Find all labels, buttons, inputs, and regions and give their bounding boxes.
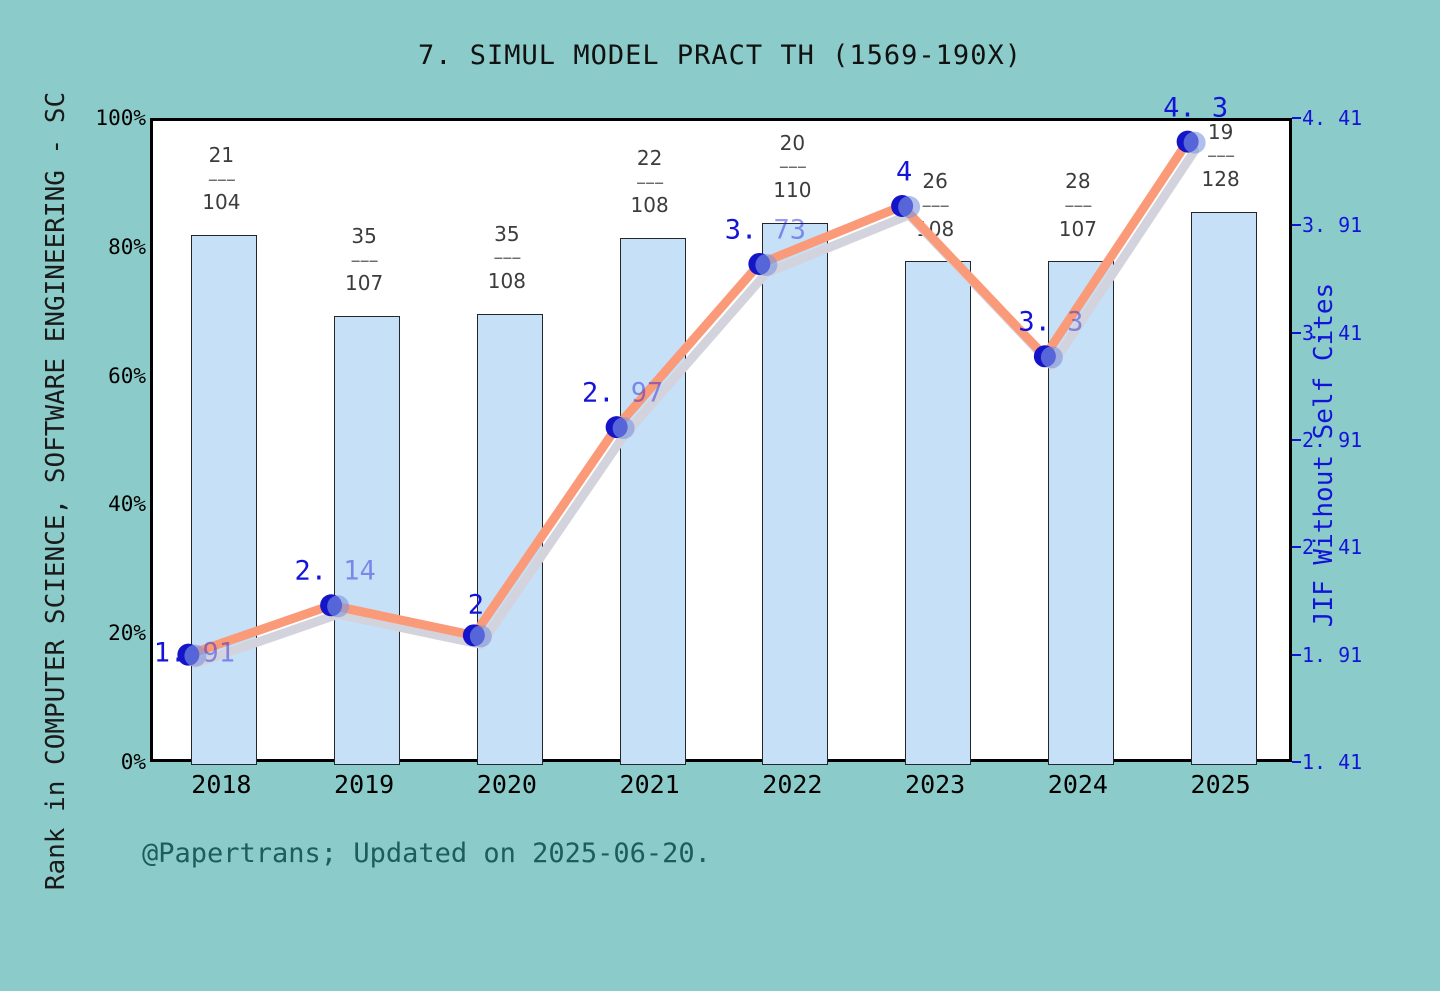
jif-point-label-2019: 2. 14 bbox=[294, 556, 375, 587]
bar-label-fraction-rule: ––– bbox=[1202, 144, 1240, 168]
bar-label-2021: 22–––108 bbox=[631, 147, 669, 218]
bar-label-2022: 20–––110 bbox=[773, 132, 811, 203]
footer-note: @Papertrans; Updated on 2025-06-20. bbox=[142, 838, 711, 869]
y-tick-right-2: 2. 41 bbox=[1302, 535, 1362, 559]
bar-label-fraction-rule: ––– bbox=[773, 155, 811, 179]
bar-label-2018: 21–––104 bbox=[202, 144, 240, 215]
jif-point-label-2020: 2 bbox=[468, 590, 484, 621]
bar-label-numerator: 19 bbox=[1208, 120, 1233, 144]
jif-point-label-head: 3. bbox=[1018, 307, 1051, 338]
y-tick-right-mark-6 bbox=[1292, 117, 1301, 119]
jif-point-label-tail: 3 bbox=[1051, 307, 1084, 338]
jif-point-label-2024: 3. 3 bbox=[1018, 307, 1083, 338]
bar-label-fraction-rule: ––– bbox=[631, 171, 669, 195]
bar-label-fraction-rule: ––– bbox=[202, 168, 240, 192]
y-tick-right-mark-0 bbox=[1292, 761, 1301, 763]
y-tick-left-0: 0% bbox=[26, 750, 146, 774]
bar-label-fraction-rule: ––– bbox=[1059, 194, 1097, 218]
bar-label-2023: 26–––108 bbox=[916, 170, 954, 241]
y-tick-right-mark-3 bbox=[1292, 439, 1301, 441]
jif-point-label-head: 3. bbox=[725, 214, 758, 245]
bar-2025 bbox=[1191, 212, 1257, 765]
bar-2021 bbox=[620, 238, 686, 765]
bar-label-denominator: 110 bbox=[773, 179, 811, 203]
y-tick-left-4: 80% bbox=[26, 235, 146, 259]
plot-area bbox=[150, 118, 1292, 762]
jif-point-label-head: 2 bbox=[468, 590, 484, 621]
bar-2020 bbox=[477, 314, 543, 765]
x-tick-2020: 2020 bbox=[477, 770, 537, 799]
jif-point-label-2023: 4 bbox=[896, 157, 912, 188]
bar-label-numerator: 28 bbox=[1065, 169, 1090, 193]
jif-point-label-tail: 91 bbox=[186, 637, 235, 668]
chart-canvas: 7. SIMUL MODEL PRACT TH (1569-190X) Rank… bbox=[0, 0, 1440, 960]
bar-label-fraction-rule: ––– bbox=[345, 249, 383, 273]
jif-point-label-head: 2. bbox=[582, 378, 615, 409]
y-tick-left-1: 20% bbox=[26, 621, 146, 645]
jif-point-label-head: 4 bbox=[896, 157, 912, 188]
bar-label-2024: 28–––107 bbox=[1059, 170, 1097, 241]
bar-2018 bbox=[191, 235, 257, 765]
bar-label-numerator: 35 bbox=[494, 222, 519, 246]
bar-label-fraction-rule: ––– bbox=[916, 194, 954, 218]
bar-label-2020: 35–––108 bbox=[488, 223, 526, 294]
y-tick-left-2: 40% bbox=[26, 492, 146, 516]
bar-label-denominator: 107 bbox=[345, 272, 383, 296]
jif-point-label-2022: 3. 73 bbox=[725, 214, 806, 245]
x-tick-2018: 2018 bbox=[191, 770, 251, 799]
y-tick-right-mark-1 bbox=[1292, 654, 1301, 656]
y-tick-right-0: 1. 41 bbox=[1302, 750, 1362, 774]
bar-2022 bbox=[762, 223, 828, 765]
x-tick-2022: 2022 bbox=[762, 770, 822, 799]
y-tick-right-3: 2. 91 bbox=[1302, 428, 1362, 452]
bar-label-denominator: 108 bbox=[916, 218, 954, 242]
y-tick-left-5: 100% bbox=[26, 106, 146, 130]
jif-point-label-head: 4. 3 bbox=[1163, 92, 1228, 123]
y-tick-right-mark-2 bbox=[1292, 546, 1301, 548]
bar-label-2019: 35–––107 bbox=[345, 225, 383, 296]
bar-label-numerator: 20 bbox=[780, 131, 805, 155]
jif-point-label-head: 1. bbox=[154, 637, 187, 668]
bar-label-denominator: 107 bbox=[1059, 218, 1097, 242]
bar-label-numerator: 21 bbox=[209, 143, 234, 167]
bar-2023 bbox=[905, 261, 971, 765]
bar-label-denominator: 108 bbox=[488, 270, 526, 294]
jif-point-label-2025: 4. 3 bbox=[1163, 92, 1228, 123]
y-tick-right-6: 4. 41 bbox=[1302, 106, 1362, 130]
x-tick-2021: 2021 bbox=[620, 770, 680, 799]
y-tick-right-1: 1. 91 bbox=[1302, 643, 1362, 667]
x-tick-2023: 2023 bbox=[905, 770, 965, 799]
bar-label-numerator: 22 bbox=[637, 146, 662, 170]
x-tick-2024: 2024 bbox=[1048, 770, 1108, 799]
y-tick-left-3: 60% bbox=[26, 364, 146, 388]
jif-point-label-tail: 73 bbox=[757, 214, 806, 245]
x-tick-2025: 2025 bbox=[1191, 770, 1251, 799]
page-title: 7. SIMUL MODEL PRACT TH (1569-190X) bbox=[0, 40, 1440, 71]
bar-label-numerator: 35 bbox=[351, 224, 376, 248]
bar-2019 bbox=[334, 316, 400, 765]
bar-label-denominator: 108 bbox=[631, 194, 669, 218]
jif-point-label-tail: 97 bbox=[614, 378, 663, 409]
bar-label-numerator: 26 bbox=[922, 169, 947, 193]
jif-point-label-2018: 1. 91 bbox=[154, 637, 235, 668]
bar-label-fraction-rule: ––– bbox=[488, 246, 526, 270]
x-tick-2019: 2019 bbox=[334, 770, 394, 799]
jif-point-label-tail: 14 bbox=[327, 556, 376, 587]
bars-container bbox=[153, 121, 1289, 759]
y-tick-right-5: 3. 91 bbox=[1302, 213, 1362, 237]
jif-point-label-2021: 2. 97 bbox=[582, 378, 663, 409]
bar-label-denominator: 128 bbox=[1202, 168, 1240, 192]
y-tick-right-4: 3. 41 bbox=[1302, 321, 1362, 345]
y-tick-right-mark-5 bbox=[1292, 224, 1301, 226]
bar-label-denominator: 104 bbox=[202, 191, 240, 215]
bar-label-2025: 19–––128 bbox=[1202, 121, 1240, 192]
jif-point-label-head: 2. bbox=[294, 556, 327, 587]
y-tick-right-mark-4 bbox=[1292, 332, 1301, 334]
